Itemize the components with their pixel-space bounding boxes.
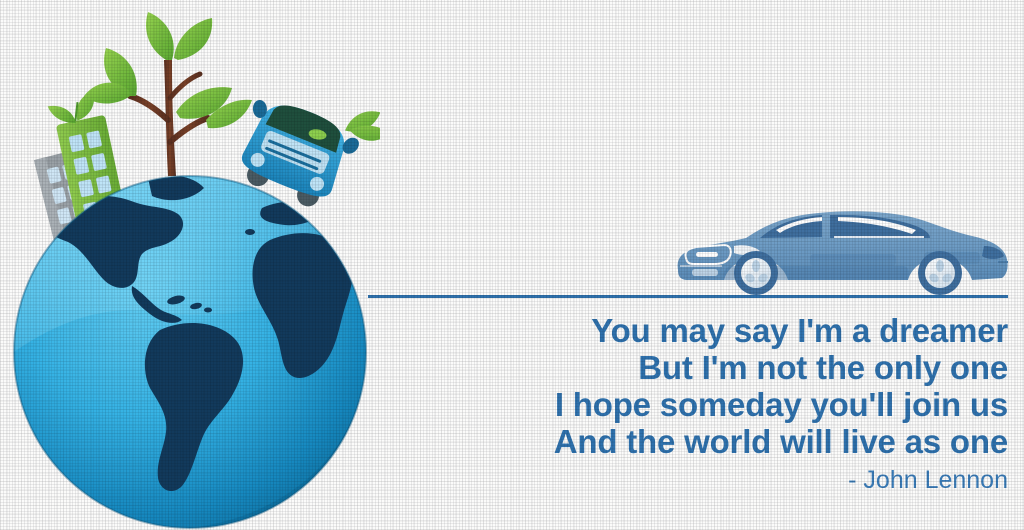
sedan-rear-wheel xyxy=(918,251,962,295)
quote-line-4: And the world will live as one xyxy=(388,423,1008,460)
quote-block: You may say I'm a dreamer But I'm not th… xyxy=(388,312,1008,494)
side-vent-rear xyxy=(810,254,896,266)
quote-line-1: You may say I'm a dreamer xyxy=(388,312,1008,349)
landmass-europe xyxy=(260,201,326,225)
divider-line xyxy=(368,295,1008,298)
eco-quote-poster: You may say I'm a dreamer But I'm not th… xyxy=(0,0,1024,530)
quote-line-2: But I'm not the only one xyxy=(388,349,1008,386)
quote-attribution: - John Lennon xyxy=(388,466,1008,494)
earth-globe xyxy=(14,175,366,528)
quote-line-3: I hope someday you'll join us xyxy=(388,386,1008,423)
eco-earth-globe-illustration xyxy=(0,0,380,530)
sedan-front-wheel xyxy=(734,251,778,295)
blue-sedan-illustration xyxy=(672,196,1012,300)
